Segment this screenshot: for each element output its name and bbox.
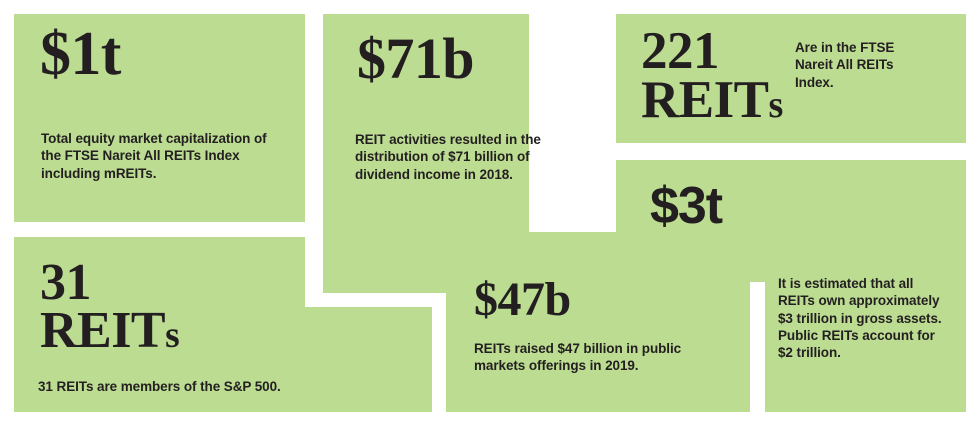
card-gross-assets-owned-stat: $3t	[650, 183, 722, 231]
card-total-equity-market-cap-stat: $1t	[40, 26, 121, 83]
stat-plural-suffix: s	[768, 84, 783, 126]
card-public-markets-offerings-stat: $47b	[474, 278, 571, 322]
stat-plural-suffix: s	[165, 315, 180, 356]
card-dividend-income-description: REIT activities resulted in the distribu…	[355, 131, 570, 183]
card-dividend-income-stat: $71b	[357, 32, 474, 85]
card-reit-count-index-description: Are in the FTSE Nareit All REITs Index.	[795, 39, 915, 91]
card-gross-assets-owned-description: It is estimated that all REITs own appro…	[778, 275, 953, 361]
card-sp500-members-stat: 31REITs	[40, 259, 180, 355]
card-sp500-members-description: 31 REITs are members of the S&P 500.	[38, 378, 338, 395]
reit-facts-infographic: $1t Total equity market capitalization o…	[0, 0, 980, 427]
card-reit-count-index-stat: 221REITs	[641, 27, 783, 125]
card-total-equity-market-cap-description: Total equity market capitalization of th…	[41, 130, 281, 182]
card-public-markets-offerings-description: REITs raised $47 billion in public marke…	[474, 340, 699, 375]
